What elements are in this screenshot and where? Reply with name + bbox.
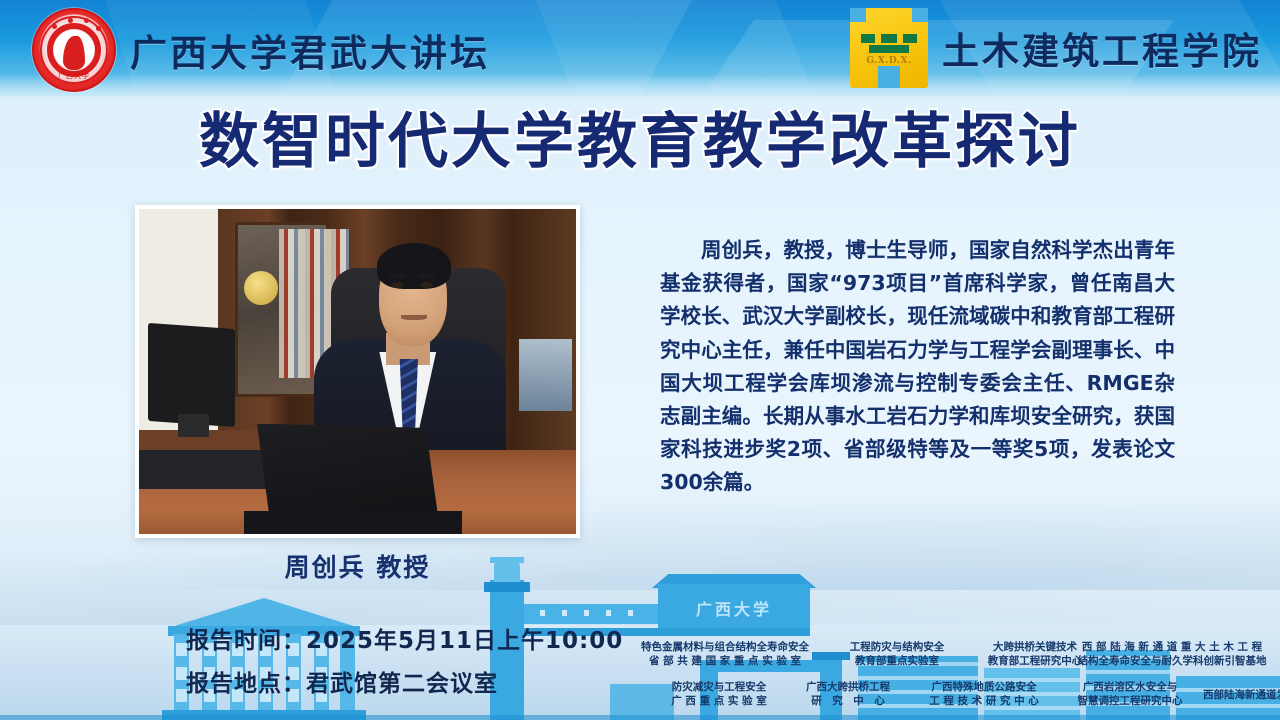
seal-caption: 广西大学 (34, 71, 114, 81)
gxu-seal-icon: 广西大学 (32, 8, 116, 92)
header-right-title: 土木建筑工程学院 (942, 21, 1262, 75)
gate-name: 广西大学 (658, 596, 810, 620)
lecture-poster: 广西大学 广西大学君武大讲坛 G.X.D.X. 土木建筑工程学院 数智时代大学教… (0, 0, 1280, 720)
lab-caption: 广西特殊地质公路安全 工 程 技 术 研 究 中 心 (910, 680, 1058, 708)
speaker-photo (135, 205, 580, 538)
event-place: 报告地点：君武馆第二会议室 (186, 663, 623, 706)
brand-right: G.X.D.X. 土木建筑工程学院 (850, 8, 1262, 88)
brand-left: 广西大学 广西大学君武大讲坛 (32, 8, 490, 92)
speaker-bio: 周创兵，教授，博士生导师，国家自然科学杰出青年基金获得者，国家“973项目”首席… (660, 234, 1175, 500)
lab-caption: 西 部 陆 海 新 通 道 重 大 土 木 工 程 结构全寿命安全与耐久学科创新… (1058, 640, 1280, 668)
lab-caption: 工程防灾与结构安全 教育部重点实验室 (832, 640, 962, 668)
lab-caption: 广西大跨拱桥工程 研 究 中 心 (786, 680, 910, 708)
emblem-acronym: G.X.D.X. (850, 56, 928, 66)
event-time: 报告时间：2025年5月11日上午10:00 (186, 620, 623, 663)
gxdx-emblem-icon: G.X.D.X. (850, 8, 928, 88)
lab-caption: 特色金属材料与组合结构全寿命安全 省 部 共 建 国 家 重 点 实 验 室 (630, 640, 820, 668)
lab-caption: 西部陆海新通道发展研究院 (1186, 688, 1280, 702)
event-info: 报告时间：2025年5月11日上午10:00 报告地点：君武馆第二会议室 (186, 620, 623, 705)
lab-caption: 广西岩溶区水安全与 智慧调控工程研究中心 (1056, 680, 1204, 708)
header-left-title: 广西大学君武大讲坛 (130, 23, 490, 77)
speaker-caption: 周创兵 教授 (135, 548, 580, 584)
page-title: 数智时代大学教育教学改革探讨 (0, 108, 1280, 177)
lab-caption: 防灾减灾与工程安全 广 西 重 点 实 验 室 (648, 680, 790, 708)
lab-caption-group: 特色金属材料与组合结构全寿命安全 省 部 共 建 国 家 重 点 实 验 室 工… (600, 640, 1280, 712)
ground-line (0, 715, 1280, 720)
